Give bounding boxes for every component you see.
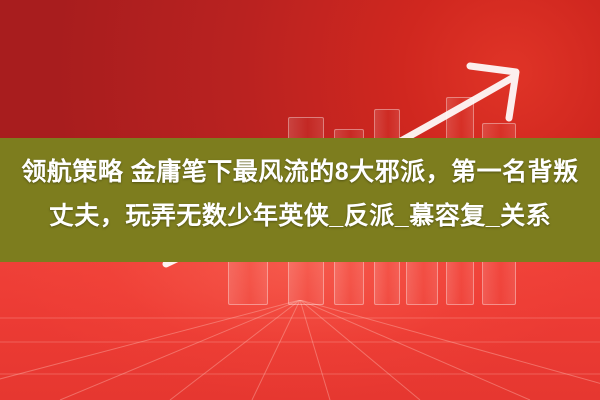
- headline: 领航策略 金庸笔下最风流的8大邪派，第一名背叛 丈夫，玩弄无数少年英侠_反派_慕…: [0, 150, 600, 255]
- headline-line-2: 丈夫，玩弄无数少年英侠_反派_慕容复_关系: [45, 194, 555, 238]
- headline-line-1: 领航策略 金庸笔下最风流的8大邪派，第一名背叛: [17, 150, 582, 194]
- promo-banner: 领航策略 金庸笔下最风流的8大邪派，第一名背叛 丈夫，玩弄无数少年英侠_反派_慕…: [0, 0, 600, 400]
